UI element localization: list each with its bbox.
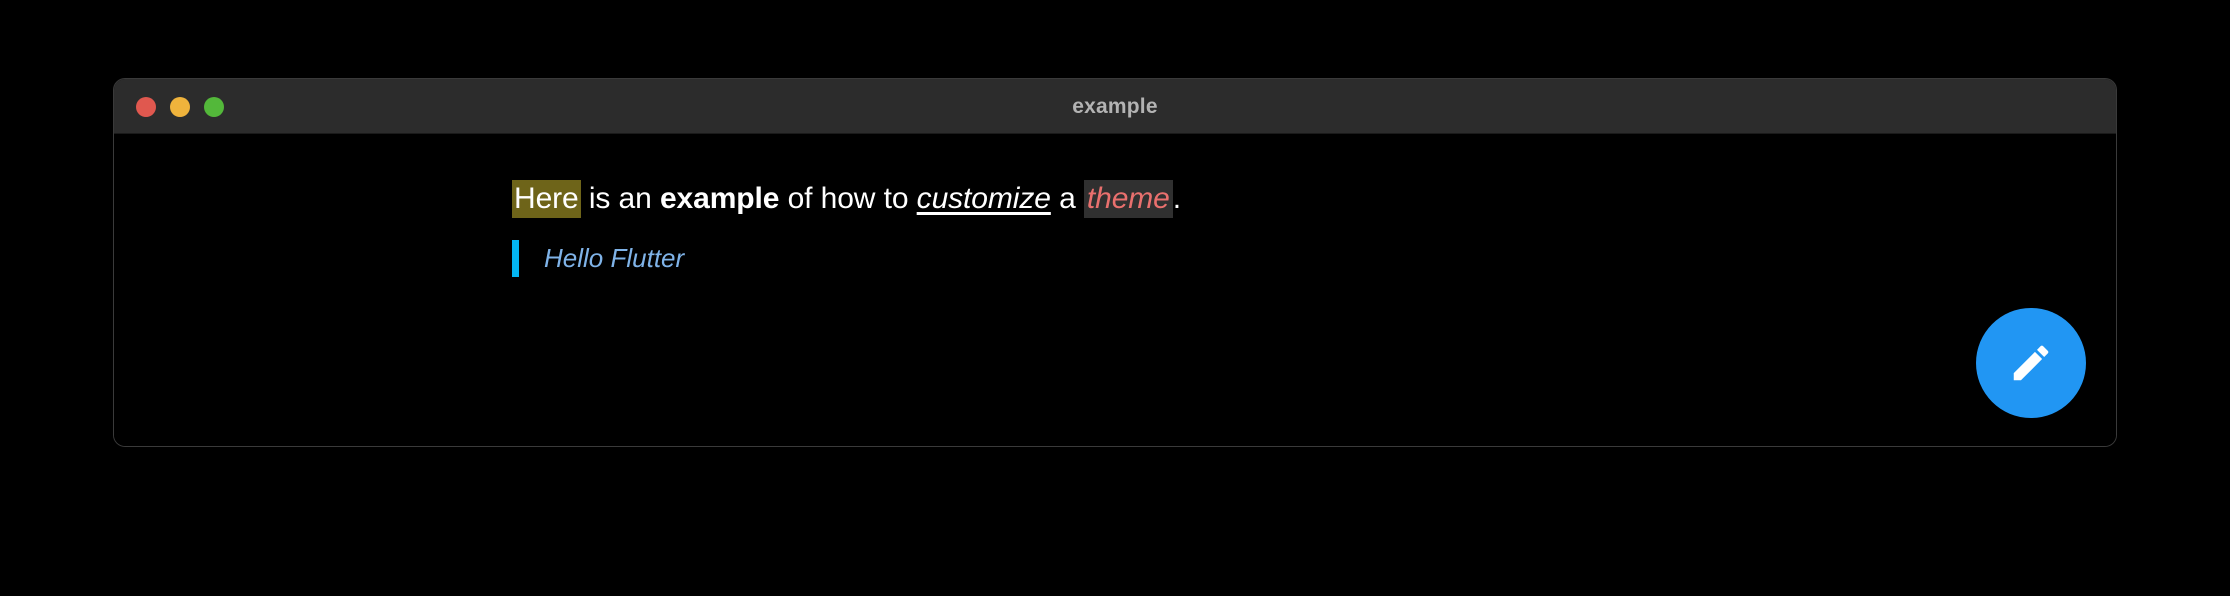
text-segment-customize[interactable]: customize (917, 182, 1051, 215)
rich-text-line: Here is an example of how to customize a… (512, 180, 2056, 218)
text-segment-here: Here (512, 180, 581, 218)
window-title: example (114, 79, 2116, 134)
blockquote-text: Hello Flutter (519, 240, 684, 277)
text-segment-a: a (1051, 182, 1084, 215)
close-button[interactable] (136, 97, 156, 117)
app-window: example Here is an example of how to cus… (113, 78, 2117, 447)
text-segment-period: . (1173, 182, 1181, 215)
zoom-button[interactable] (204, 97, 224, 117)
text-segment-of-how-to: of how to (779, 182, 916, 215)
window-controls (136, 79, 224, 134)
blockquote: Hello Flutter (512, 240, 2056, 277)
edit-fab-button[interactable] (1976, 308, 2086, 418)
text-segment-example: example (660, 182, 779, 215)
pencil-icon (2008, 340, 2054, 386)
minimize-button[interactable] (170, 97, 190, 117)
text-segment-theme: theme (1084, 180, 1173, 218)
rich-text-content: Here is an example of how to customize a… (512, 180, 2056, 277)
window-body: Here is an example of how to customize a… (114, 134, 2116, 446)
blockquote-bar (512, 240, 519, 277)
window-titlebar[interactable]: example (114, 79, 2116, 134)
text-segment-is-an: is an (581, 182, 660, 215)
